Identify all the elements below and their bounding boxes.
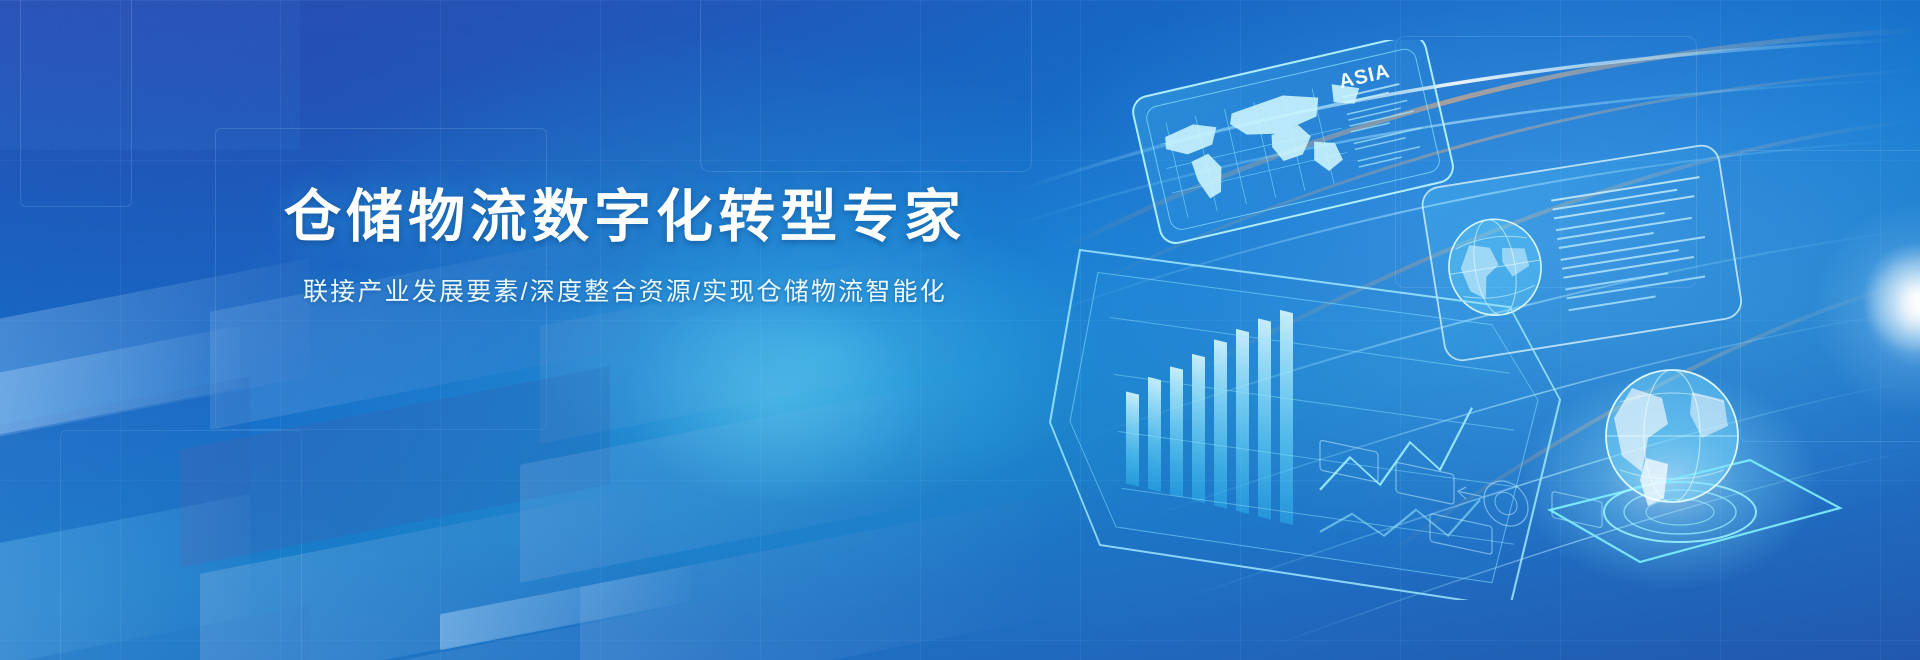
pedestal-globe-icon (1520, 370, 1840, 590)
lens-flare (1770, 160, 1920, 460)
hero-text-block: 仓储物流数字化转型专家 联接产业发展要素/深度整合资源/实现仓储物流智能化 (0, 186, 1250, 308)
grid-box (700, 0, 1032, 172)
page-title: 仓储物流数字化转型专家 (0, 186, 1250, 250)
hud-widgets (1320, 440, 1602, 578)
asia-label-group: ASIA (1337, 56, 1427, 168)
page-subtitle: 联接产业发展要素/深度整合资源/实现仓储物流智能化 (0, 272, 1250, 308)
grain-texture (0, 0, 300, 150)
light-streaks (0, 0, 1920, 660)
grid-box (60, 430, 302, 660)
grid-box (1395, 36, 1697, 288)
asia-label: ASIA (1337, 60, 1392, 93)
background-grid (0, 0, 1920, 660)
grid-box (20, 0, 132, 207)
bar-chart-icon (1126, 271, 1293, 525)
lens-flare-core (1838, 218, 1920, 378)
hologram-graphic: ASIA (1020, 40, 1920, 600)
text-globe-panel (1420, 143, 1744, 363)
hero-banner: ASIA (0, 0, 1920, 660)
grid-box (1740, 150, 1920, 442)
globe-icon (1442, 213, 1548, 322)
isometric-slabs (0, 290, 1030, 660)
line-chart-icon (1320, 370, 1480, 572)
